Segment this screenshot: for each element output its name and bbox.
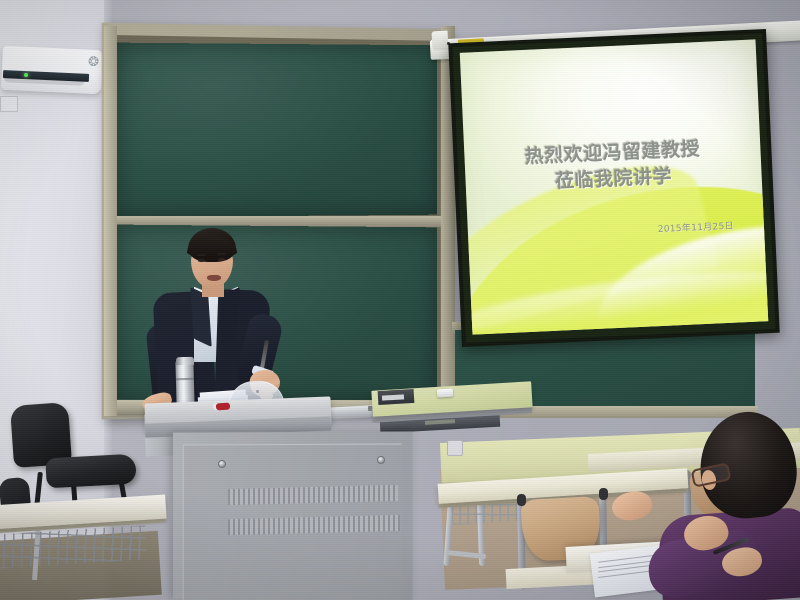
office-chair-seat[interactable] [45,454,136,489]
roller-end-cap [432,31,449,51]
cover-stud [256,390,259,393]
mouse-accent [216,403,230,411]
presenter-mouth [207,275,221,281]
wall-junction-box [0,96,18,112]
air-conditioner-power-led [24,73,28,77]
presenter-eye-right [218,258,225,261]
podium-lock-left[interactable] [218,460,226,468]
presenter-eyebrow-left [197,254,206,256]
wall-socket[interactable] [447,440,463,456]
student-chair-cap-right [599,488,608,500]
remote-control[interactable] [437,389,453,398]
presenter-eye-left [198,259,205,262]
blackboard-panel-upper [116,43,437,218]
thermos-cap [176,357,194,365]
classroom-photo: ❂ 热烈欢迎冯留建教授 莅临我院讲学 2015年11月25日 [0,0,800,600]
thermos-flask [175,360,194,406]
presenter-eyebrow-right [217,253,226,255]
podium-lock-right[interactable] [377,456,385,464]
fan-icon: ❂ [88,55,103,70]
projected-slide: 热烈欢迎冯留建教授 莅临我院讲学 2015年11月25日 [460,39,768,334]
blackboard-left-post [104,26,117,416]
student-chair-cap-left [517,494,526,506]
